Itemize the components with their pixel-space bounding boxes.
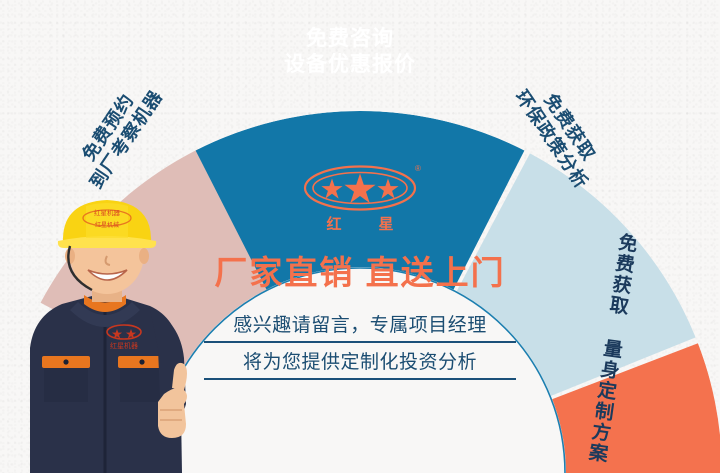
svg-text:红星机械: 红星机械	[95, 221, 119, 229]
subtitle-line-1: 感兴趣请留言，专属项目经理	[204, 306, 516, 341]
three-stars-ellipse-icon	[305, 167, 415, 210]
brand-logo: ® 红 星	[296, 162, 424, 236]
subtitle-line-2: 将为您提供定制化投资分析	[204, 343, 516, 378]
smiling-worker-thumbs-up: 红星机器 红星机器 红星机械	[0, 198, 216, 473]
logo-name-right: 星	[378, 216, 393, 233]
svg-text:红星机器: 红星机器	[110, 341, 138, 350]
segment-consult-line2: 设备优惠报价	[255, 52, 445, 78]
svg-text:红星机器: 红星机器	[94, 208, 121, 217]
headline: 厂家直销 直送上门	[214, 246, 505, 294]
segment-label-consult: 免费咨询 设备优惠报价	[255, 26, 445, 77]
registered-mark: ®	[415, 164, 421, 173]
segment-consult-line1: 免费咨询	[255, 26, 445, 52]
subtitle-block: 感兴趣请留言，专属项目经理 将为您提供定制化投资分析	[204, 306, 516, 380]
logo-name-left: 红	[326, 215, 341, 233]
subtitle-divider-bottom	[204, 378, 516, 380]
promo-banner: 免费咨询 设备优惠报价 免费预约 到厂考察机器 免费获取 环保政策分析 免费获取…	[0, 0, 720, 473]
